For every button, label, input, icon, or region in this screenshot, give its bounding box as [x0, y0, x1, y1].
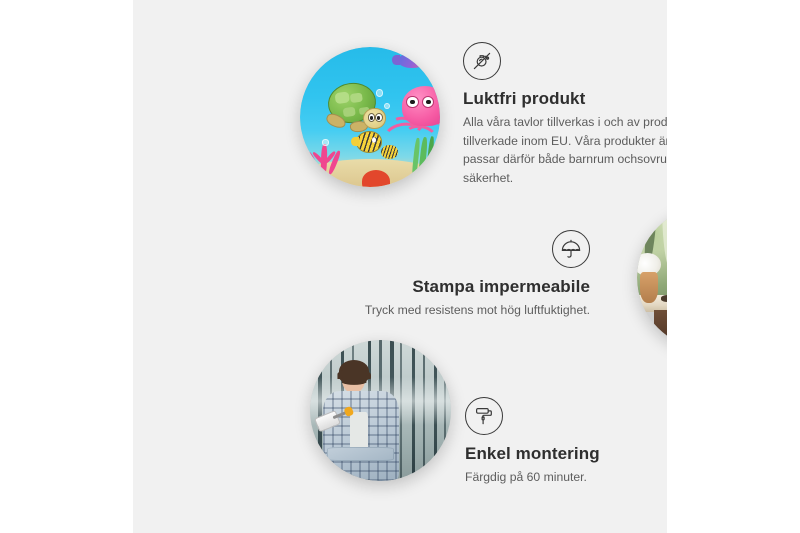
turtle-eye-right [375, 113, 383, 122]
feature-title: Enkel montering [465, 444, 667, 464]
crab [362, 170, 390, 187]
soap-dish [661, 295, 667, 302]
bubble [376, 89, 384, 97]
yellow-striped-fish [356, 131, 382, 153]
image-underwater-scene [300, 47, 440, 187]
infographic-canvas: Luktfri produkt Alla våra tavlor tillver… [0, 0, 800, 533]
octopus-head [402, 86, 440, 126]
underwater-scene-inner [300, 47, 440, 187]
feature-easy-mounting: Enkel montering Färgdig på 60 minuter. [465, 397, 667, 487]
woman-plaid-shirt [323, 391, 399, 481]
octopus [387, 86, 440, 145]
leaf-motif [660, 206, 667, 268]
octopus-eye-right [422, 96, 434, 108]
woman-crossed-arms [327, 447, 394, 461]
pink-coral [307, 134, 355, 176]
vanity-cabinet [654, 310, 667, 349]
woman-figure [321, 364, 400, 481]
bubble [322, 139, 328, 145]
turtle-head [363, 108, 385, 128]
octopus-eye-left [406, 96, 418, 108]
woman-hair [339, 360, 369, 382]
feature-odourless: Luktfri produkt Alla våra tavlor tillver… [463, 42, 667, 188]
blue-fish [398, 53, 426, 68]
feature-description: Tryck med resistens mot hög luftfuktighe… [338, 301, 590, 320]
feature-description: Alla våra tavlor tillverkas i och av pro… [463, 113, 667, 187]
feature-title: Luktfri produkt [463, 89, 667, 109]
feature-description: Färgdig på 60 minuter. [465, 468, 667, 487]
vase [640, 272, 659, 303]
bathroom-scene-inner [637, 206, 667, 349]
forest-scene-inner [310, 340, 451, 481]
image-bathroom-leaf-wallpaper [637, 206, 667, 349]
umbrella-icon [552, 230, 590, 268]
feature-waterproof: Stampa impermeabile Tryck med resistens … [338, 230, 590, 320]
feature-title: Stampa impermeabile [338, 277, 590, 297]
yellow-striped-fish-small [381, 145, 398, 159]
content-panel: Luktfri produkt Alla våra tavlor tillver… [133, 0, 667, 533]
image-woman-paint-roller-forest [310, 340, 451, 481]
no-fragrance-icon [463, 42, 501, 80]
paint-roller-icon [465, 397, 503, 435]
